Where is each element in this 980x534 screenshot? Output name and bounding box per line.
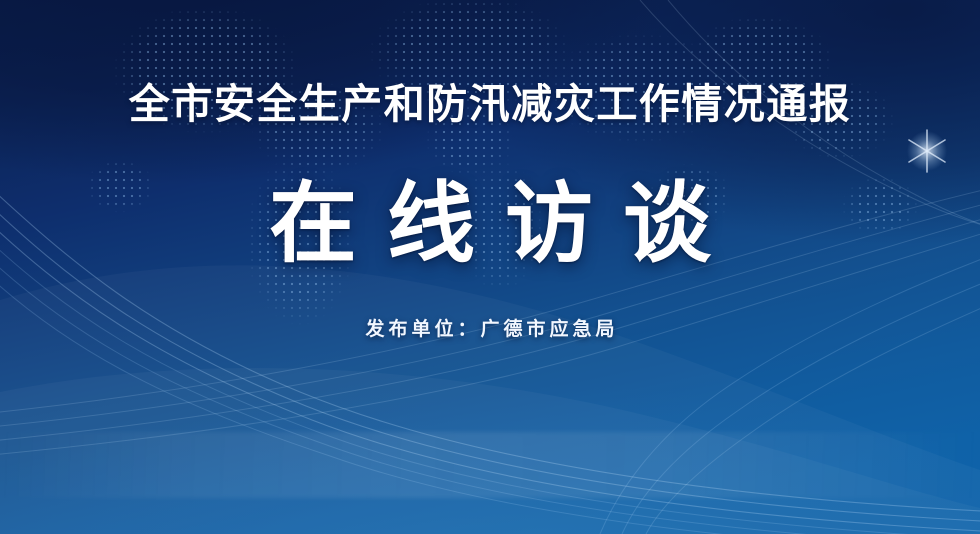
interview-announcement-poster: 全市安全生产和防汛减灾工作情况通报 在线访谈 发布单位：广德市应急局 bbox=[0, 0, 980, 534]
poster-text-block: 全市安全生产和防汛减灾工作情况通报 在线访谈 发布单位：广德市应急局 bbox=[0, 0, 980, 534]
page-title: 在线访谈 bbox=[0, 180, 980, 268]
publisher-byline: 发布单位：广德市应急局 bbox=[0, 320, 980, 339]
page-subtitle-topic: 全市安全生产和防汛减灾工作情况通报 bbox=[0, 84, 980, 125]
